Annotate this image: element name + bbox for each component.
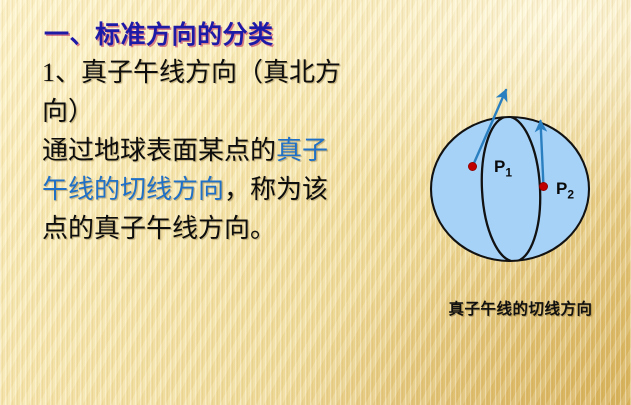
body-line-3: 通过地球表面某点的真子: [42, 131, 387, 170]
page-title: 一、标准方向的分类: [44, 15, 274, 51]
body-line-1-run-1: 1、真子午线方向（真北方: [42, 58, 341, 87]
body-line-5-run-1: 点的真子午线方向。: [42, 214, 276, 243]
body-line-4-run-2: ，称为该: [224, 175, 328, 204]
body-line-3-run-2-highlight: 真子: [276, 136, 328, 165]
body-line-4: 午线的切线方向，称为该: [42, 170, 387, 209]
point-marker-p2: [539, 182, 547, 190]
point-marker-p1: [468, 162, 476, 170]
body-line-3-run-1: 通过地球表面某点的: [42, 136, 276, 165]
body-line-5: 点的真子午线方向。: [42, 209, 387, 248]
body-line-1: 1、真子午线方向（真北方: [42, 53, 387, 92]
point-label-p2-name: P: [556, 179, 567, 198]
point-label-p1-subscript: 1: [505, 165, 512, 179]
point-label-p2: P2: [556, 179, 574, 201]
slide-canvas: 一、标准方向的分类 1、真子午线方向（真北方 向） 通过地球表面某点的真子 午线…: [0, 0, 631, 405]
body-line-4-run-1-highlight: 午线的切线方向: [42, 175, 224, 204]
earth-meridian-diagram: [418, 72, 623, 272]
body-line-2-run-1: 向）: [42, 97, 94, 126]
body-text-block: 1、真子午线方向（真北方 向） 通过地球表面某点的真子 午线的切线方向，称为该 …: [42, 53, 387, 248]
diagram-caption: 真子午线的切线方向: [418, 297, 623, 319]
point-label-p2-subscript: 2: [567, 187, 574, 201]
point-label-p1: P1: [494, 157, 512, 179]
point-label-p1-name: P: [494, 157, 505, 176]
body-line-2: 向）: [42, 92, 387, 131]
